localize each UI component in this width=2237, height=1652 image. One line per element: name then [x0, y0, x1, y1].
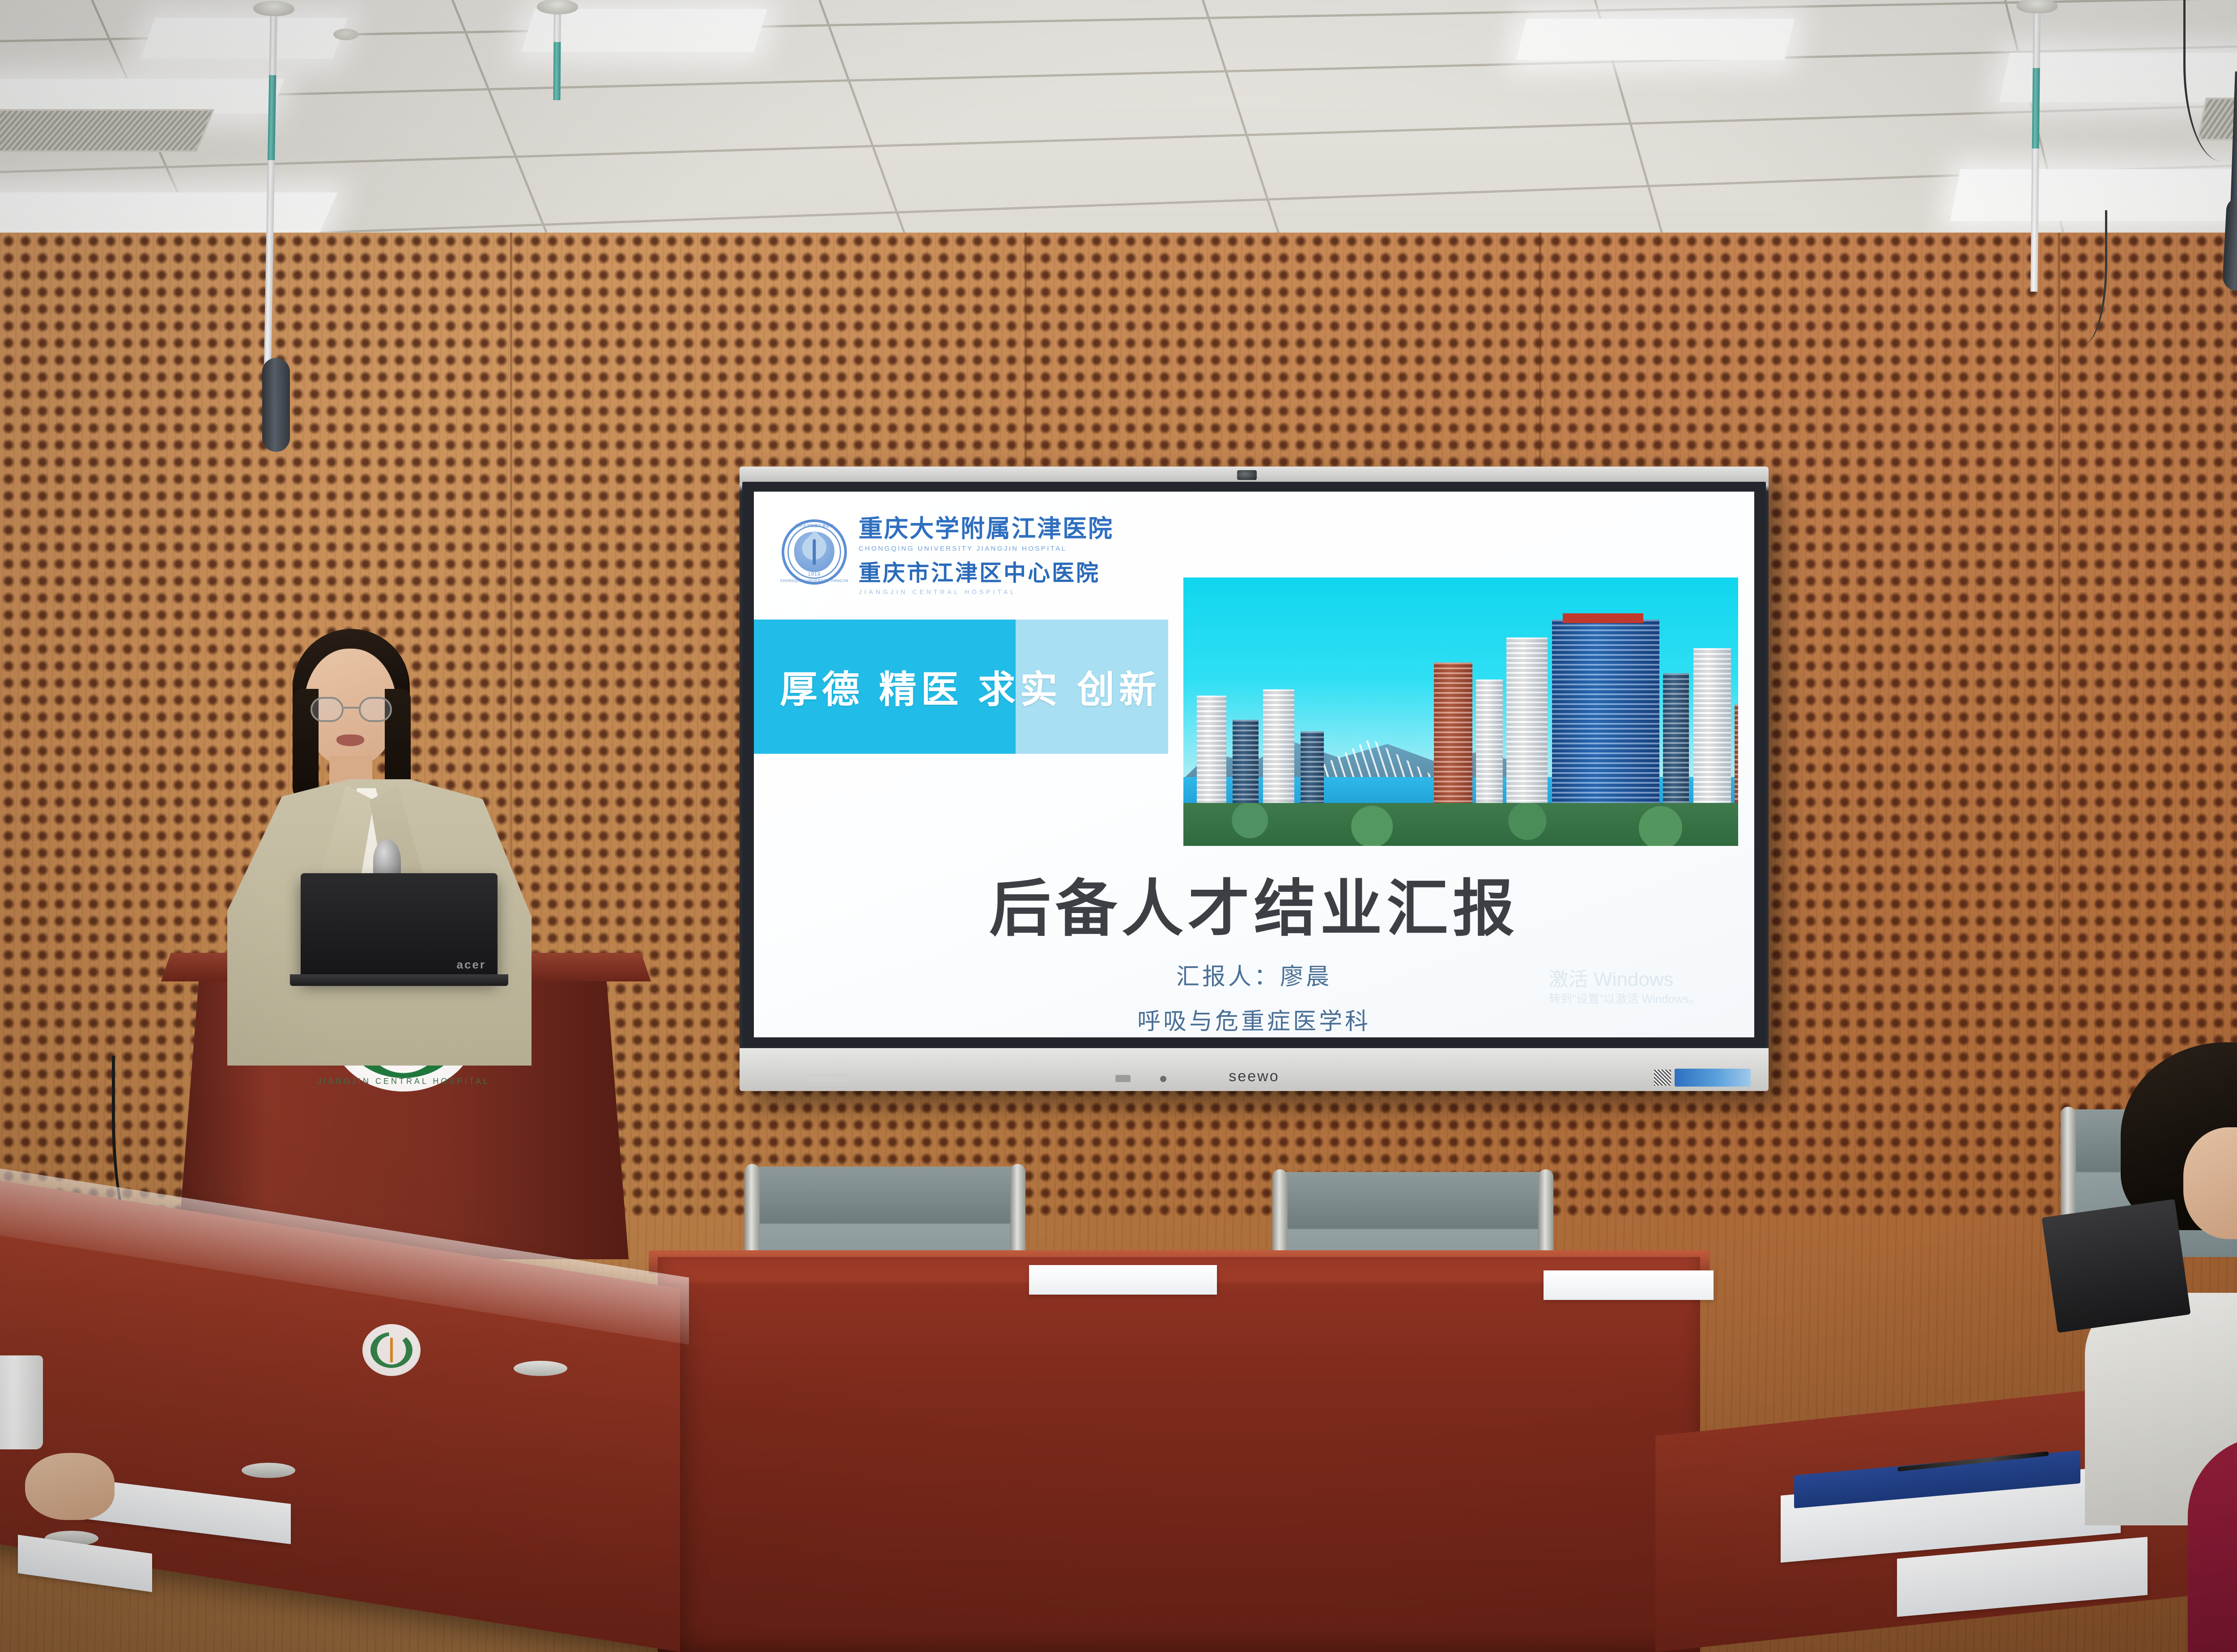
- hospital-campus-photo: [1183, 578, 1738, 846]
- ceiling-light-panel: [0, 79, 285, 114]
- mic-ceiling-mount: [537, 0, 578, 14]
- presentation-slide[interactable]: · 重庆大学附属江津医院 · 1919 CHONGQING UNIVERSITY…: [754, 492, 1754, 1037]
- presenter-mouth: [336, 735, 364, 746]
- table-mic-disc: [514, 1361, 567, 1376]
- logo-line1-cn: 重庆大学附属江津医院: [859, 509, 1114, 544]
- hospital-logo: · 重庆大学附属江津医院 · 1919 CHONGQING UNIVERSITY…: [782, 509, 1114, 595]
- presenter: [227, 622, 532, 1105]
- logo-line2-cn: 重庆市江津区中心医院: [859, 555, 1114, 587]
- crest-arc-bottom-text: CHONGQING UNIVERSITY JIANGJIN: [780, 579, 849, 583]
- mic-ceiling-mount: [2016, 0, 2058, 13]
- motto-band: 厚德 精医 求实 创新: [754, 620, 1168, 754]
- motto-text: 厚德 精医 求实 创新: [780, 660, 1161, 714]
- product-label-sticker: [1675, 1069, 1751, 1087]
- conference-room-photo: · 重庆大学附属江津医院 · 1919 CHONGQING UNIVERSITY…: [0, 0, 2237, 1652]
- crest-year-text: 1919: [808, 572, 821, 577]
- slide-department-line: 呼吸与危重症医学科: [754, 1002, 1754, 1036]
- display-speaker-grille: [807, 1073, 850, 1081]
- qr-code-sticker: [1654, 1070, 1671, 1086]
- logo-line2-en: JIANGJIN CENTRAL HOSPITAL: [859, 588, 1114, 595]
- slide-title: 后备人才结业汇报: [754, 858, 1754, 948]
- attendee-hand: [25, 1453, 115, 1520]
- smoke-detector-icon: [333, 29, 358, 40]
- ceiling: [0, 0, 2237, 251]
- attendee-right-front: [2215, 1078, 2237, 1652]
- name-card: [1029, 1265, 1217, 1295]
- ceiling-air-vent: [0, 109, 214, 152]
- ceiling-microphone-pole: [553, 6, 561, 100]
- watermark-line2: 转到"设置"以激活 Windows。: [1549, 992, 1701, 1006]
- ceiling-light-panel: [1516, 19, 1795, 60]
- presenter-laptop[interactable]: acer: [301, 873, 498, 980]
- laptop-base: [290, 974, 508, 986]
- mic-ceiling-mount: [253, 0, 295, 17]
- display-indicator-led: [1160, 1076, 1166, 1082]
- eyeglasses-icon: [310, 697, 392, 722]
- crest-arc-top-text: · 重庆大学附属江津医院 ·: [793, 523, 836, 528]
- name-card: [1544, 1270, 1714, 1300]
- table-mic-disc: [242, 1463, 295, 1478]
- display-bottom-bezel: seewo: [740, 1048, 1769, 1091]
- interactive-display[interactable]: · 重庆大学附属江津医院 · 1919 CHONGQING UNIVERSITY…: [740, 467, 1769, 1091]
- laptop-brand-label: acer: [457, 958, 486, 972]
- paper-cup[interactable]: [0, 1355, 43, 1449]
- ceiling-light-panel: [140, 18, 347, 59]
- hospital-crest-icon: · 重庆大学附属江津医院 · 1919 CHONGQING UNIVERSITY…: [782, 519, 847, 585]
- watermark-line1: 激活 Windows: [1549, 967, 1701, 992]
- ceiling-microphone-capsule: [262, 358, 290, 452]
- logo-line1-en: CHONGQING UNIVERSITY JIANGJIN HOSPITAL: [859, 545, 1114, 552]
- display-power-button[interactable]: [1115, 1075, 1131, 1082]
- display-brand-label: seewo: [1229, 1068, 1279, 1085]
- webcam-icon: [1237, 470, 1257, 480]
- conference-table-back: [658, 1257, 1700, 1652]
- table-coaster-emblem-icon: [362, 1324, 421, 1376]
- attendee-laptop[interactable]: [2041, 1199, 2190, 1333]
- windows-activation-watermark: 激活 Windows 转到"设置"以激活 Windows。: [1549, 967, 1701, 1006]
